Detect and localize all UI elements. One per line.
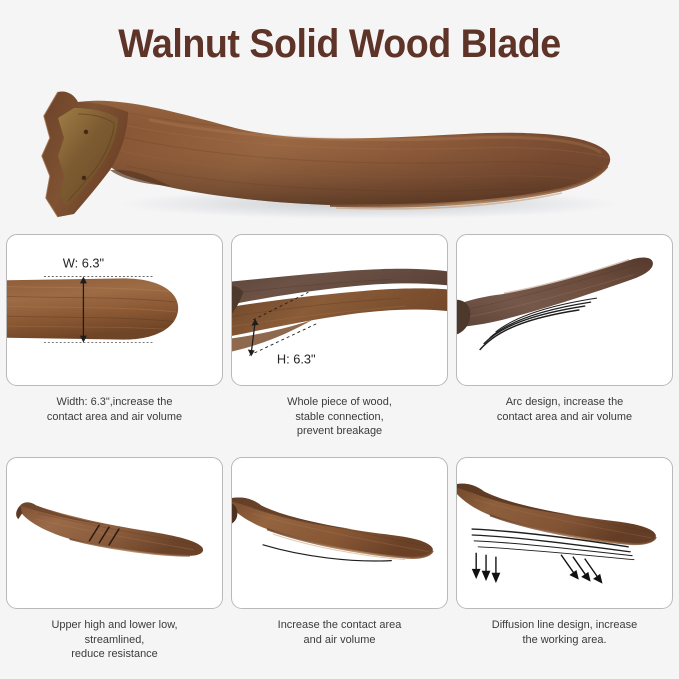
blade-body (78, 92, 646, 209)
feature-cell-width: W: 6.3" Width: 6.3",increase the contact… (6, 234, 223, 451)
caption-height: Whole piece of wood, stable connection, … (234, 395, 444, 439)
card-diffusion-line[interactable] (456, 457, 673, 609)
caption-width: Width: 6.3",increase the contact area an… (9, 395, 219, 424)
product-infographic: Walnut Solid Wood Blade (0, 0, 679, 679)
caption-streamlined: Upper high and lower low, streamlined, r… (9, 618, 219, 662)
feature-cell-contact: Increase the contact area and air volume (231, 457, 448, 674)
card-arc-design[interactable] (456, 234, 673, 386)
caption-contact: Increase the contact area and air volume (234, 618, 444, 647)
arrow-group-diagonal (561, 555, 601, 583)
blade-diffusion-view (457, 484, 656, 544)
hero-blade-image (0, 72, 679, 224)
card-streamlined[interactable] (6, 457, 223, 609)
feature-cell-streamlined: Upper high and lower low, streamlined, r… (6, 457, 223, 674)
card-width[interactable]: W: 6.3" (6, 234, 223, 386)
feature-cell-diffusion: Diffusion line design, increase the work… (456, 457, 673, 674)
arrow-group-vertical (473, 553, 499, 582)
caption-arc: Arc design, increase the contact area an… (459, 395, 669, 424)
card-contact-area[interactable] (231, 457, 448, 609)
dimension-label-width: W: 6.3" (63, 256, 104, 271)
feature-cell-height: H: 6.3" Whole piece of wood, stable conn… (231, 234, 448, 451)
feature-cell-arc: Arc design, increase the contact area an… (456, 234, 673, 451)
dimension-label-height: H: 6.3" (277, 351, 316, 366)
card-height[interactable]: H: 6.3" (231, 234, 448, 386)
page-title: Walnut Solid Wood Blade (20, 22, 658, 67)
feature-card-grid: W: 6.3" Width: 6.3",increase the contact… (6, 234, 673, 674)
caption-diffusion: Diffusion line design, increase the work… (459, 618, 669, 647)
